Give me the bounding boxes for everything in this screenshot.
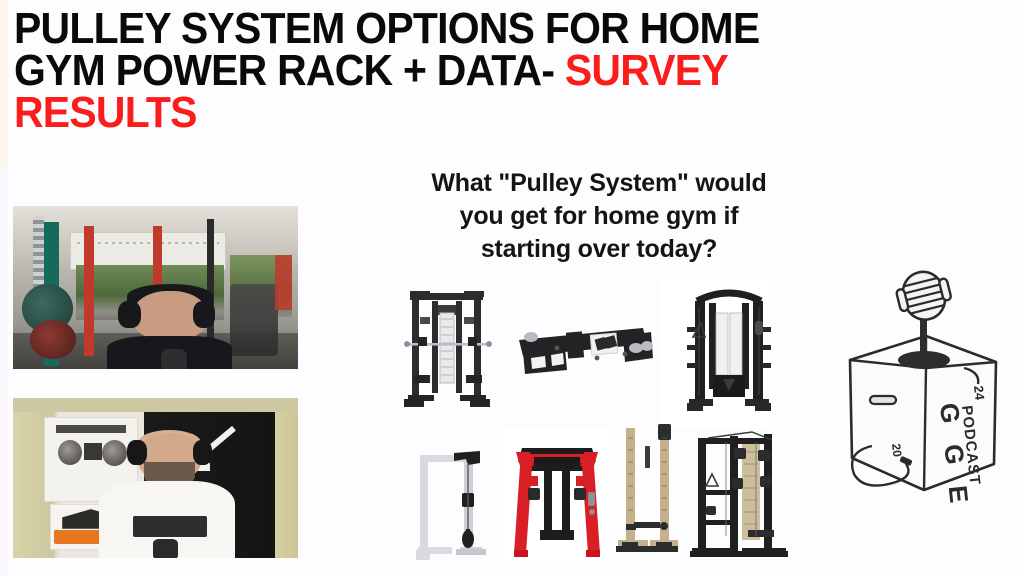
product-red-folding-power-rack — [504, 432, 610, 560]
microphone — [161, 349, 187, 369]
title-line-3: RESULTS — [14, 92, 944, 134]
studio-ceiling — [13, 398, 298, 412]
webcam-tile-garage-gym-speaker — [13, 206, 298, 369]
title-line-2-red: SURVEY — [565, 46, 728, 95]
product-lat-pulldown-low-row-attachment — [505, 318, 655, 384]
product-functional-trainer-smith-combo — [398, 283, 496, 413]
title-line-1: PULLEY SYSTEM OPTIONS FOR HOME — [14, 8, 944, 50]
headphone2-ear-left — [127, 440, 147, 466]
webcam-tile-basement-studio-speaker — [13, 398, 298, 558]
boombox-cassette-deck — [84, 443, 102, 460]
product-power-rack-with-cable-tower — [686, 420, 790, 566]
slide-canvas: PULLEY SYSTEM OPTIONS FOR HOME GYM POWER… — [0, 0, 1024, 576]
survey-question: What "Pulley System" would you get for h… — [383, 167, 815, 266]
survey-question-line-2: you get for home gym if — [383, 200, 815, 233]
boombox-speaker-right — [102, 440, 128, 467]
gge-podcast-logo: 24 20 G G E PODCAST — [828, 268, 1010, 508]
wall-banner-red — [275, 255, 292, 310]
boombox-label-strip — [56, 425, 125, 433]
gym-equipment-right — [230, 284, 278, 356]
survey-question-line-1: What "Pulley System" would — [383, 167, 815, 200]
headphone-ear-left — [118, 301, 141, 329]
logo-number-front: 20 — [889, 443, 904, 458]
product-dual-column-functional-trainer — [683, 283, 775, 415]
microphone-2 — [153, 539, 179, 558]
headphone2-ear-right — [193, 440, 213, 466]
mic-capsule — [893, 268, 955, 325]
boombox-speaker-left — [58, 440, 82, 465]
rack-upright-red-left — [84, 226, 94, 356]
headphone-ear-right — [193, 301, 216, 329]
product-wood-squat-stand-tower — [612, 418, 682, 564]
product-single-column-cable-tower — [410, 437, 492, 565]
bumper-plate-red — [30, 320, 76, 359]
box-handle — [870, 396, 896, 404]
left-edge-strip-lower — [0, 170, 8, 576]
page-title: PULLEY SYSTEM OPTIONS FOR HOME GYM POWER… — [14, 8, 944, 135]
logo-number-right: 24 — [971, 385, 988, 402]
survey-question-line-3: starting over today? — [383, 233, 815, 266]
rep-shirt-logo — [133, 516, 207, 537]
title-line-2: GYM POWER RACK + DATA- SURVEY — [14, 50, 944, 92]
